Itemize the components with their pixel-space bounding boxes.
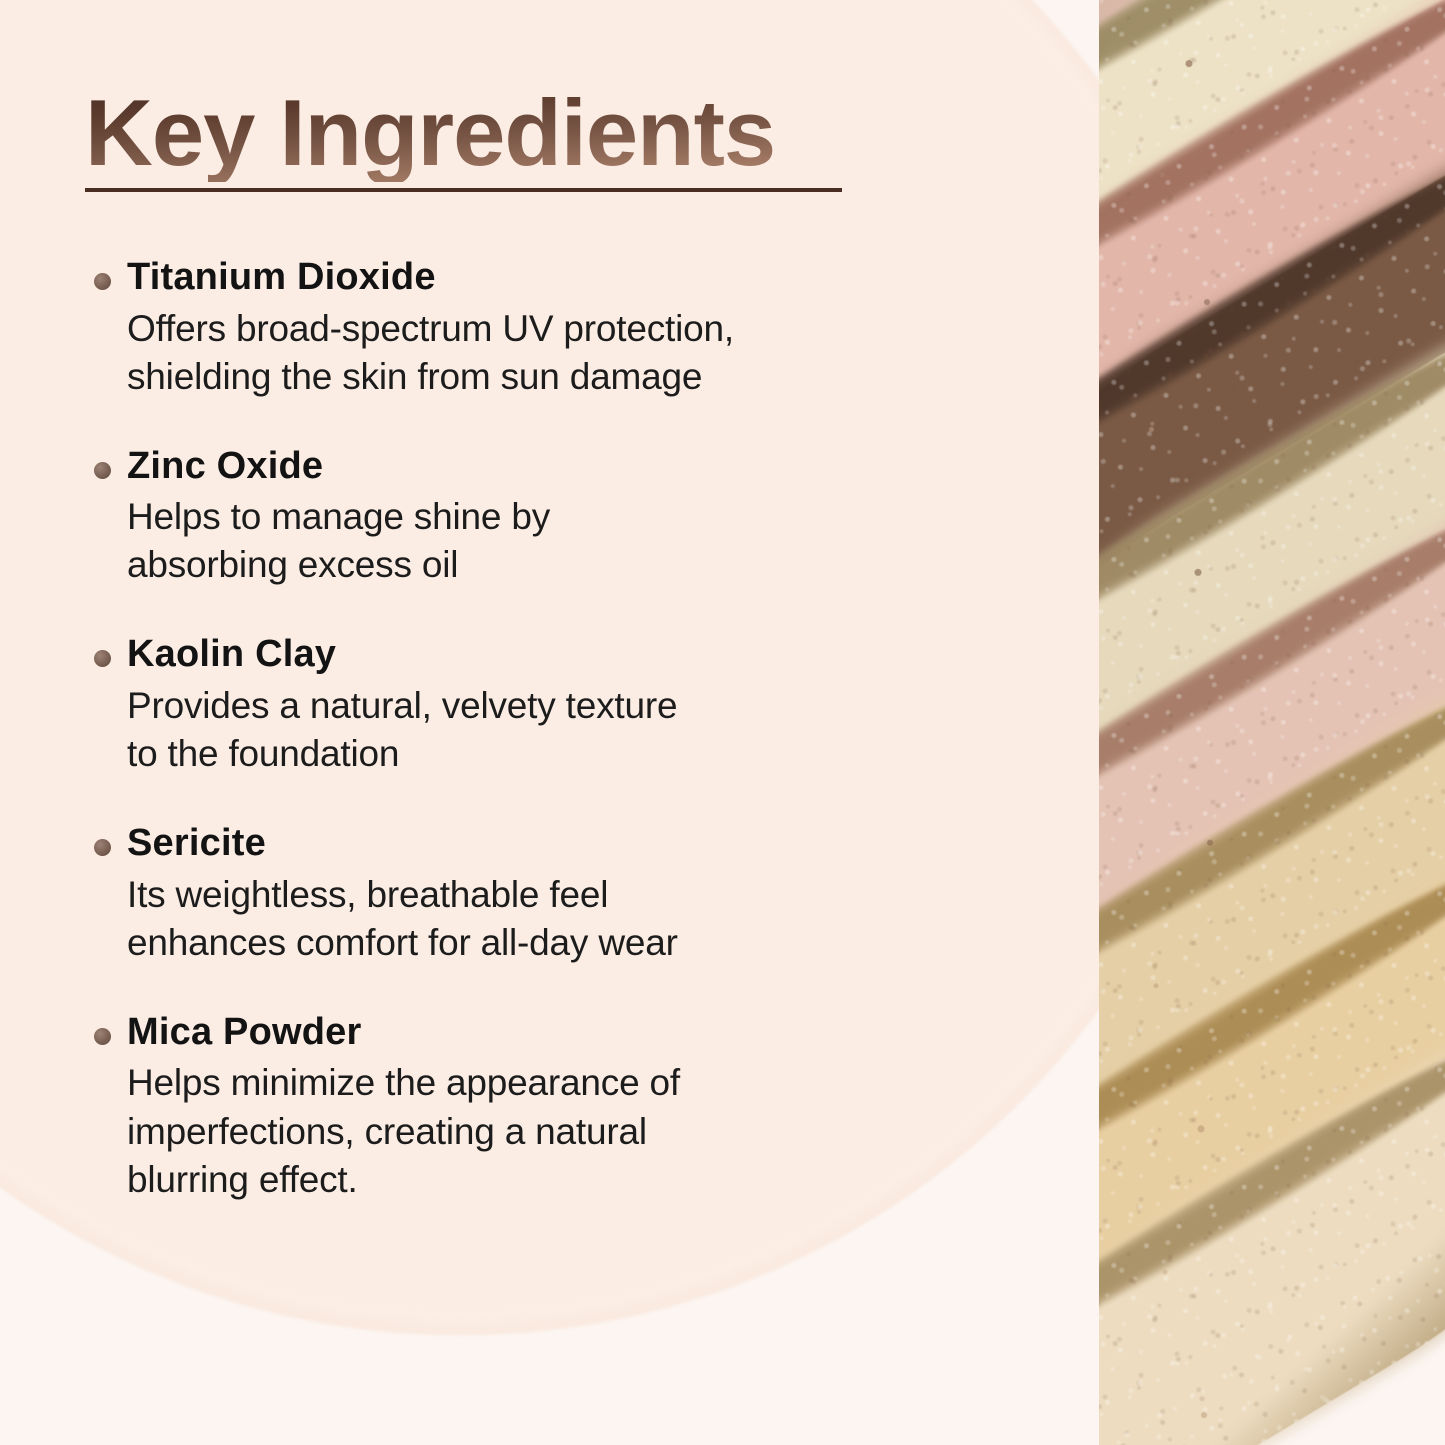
list-item: Sericite Its weightless, breathable feel…: [85, 822, 955, 967]
ingredient-name: Sericite: [127, 822, 955, 865]
list-item: Zinc Oxide Helps to manage shine by abso…: [85, 445, 955, 590]
ingredient-list: Titanium Dioxide Offers broad-spectrum U…: [85, 256, 955, 1204]
ingredient-description: Helps minimize the appearance of imperfe…: [127, 1059, 955, 1203]
list-item: Kaolin Clay Provides a natural, velvety …: [85, 633, 955, 778]
ingredient-description: Offers broad-spectrum UV protection, shi…: [127, 305, 955, 401]
bullet-dot-icon: [94, 650, 111, 667]
ingredient-name: Mica Powder: [127, 1011, 955, 1054]
ingredient-name: Zinc Oxide: [127, 445, 955, 488]
list-item: Titanium Dioxide Offers broad-spectrum U…: [85, 256, 955, 401]
page-title: Key Ingredients: [85, 86, 775, 182]
bullet-dot-icon: [94, 273, 111, 290]
page-title-wrap: Key Ingredients: [85, 86, 955, 192]
ingredient-name: Kaolin Clay: [127, 633, 955, 676]
powder-swatch-image: [1099, 0, 1445, 1445]
ingredient-description: Helps to manage shine by absorbing exces…: [127, 493, 955, 589]
key-ingredients-page: Key Ingredients Titanium Dioxide Offers …: [0, 0, 1445, 1445]
bullet-dot-icon: [94, 462, 111, 479]
ingredient-description: Provides a natural, velvety texture to t…: [127, 682, 955, 778]
powder-scatter-particles: [1099, 0, 1249, 1445]
ingredient-name: Titanium Dioxide: [127, 256, 955, 299]
content-column: Key Ingredients Titanium Dioxide Offers …: [85, 86, 955, 1204]
list-item: Mica Powder Helps minimize the appearanc…: [85, 1011, 955, 1204]
bullet-dot-icon: [94, 1028, 111, 1045]
bullet-dot-icon: [94, 839, 111, 856]
title-underline: [85, 188, 842, 192]
ingredient-description: Its weightless, breathable feel enhances…: [127, 871, 955, 967]
